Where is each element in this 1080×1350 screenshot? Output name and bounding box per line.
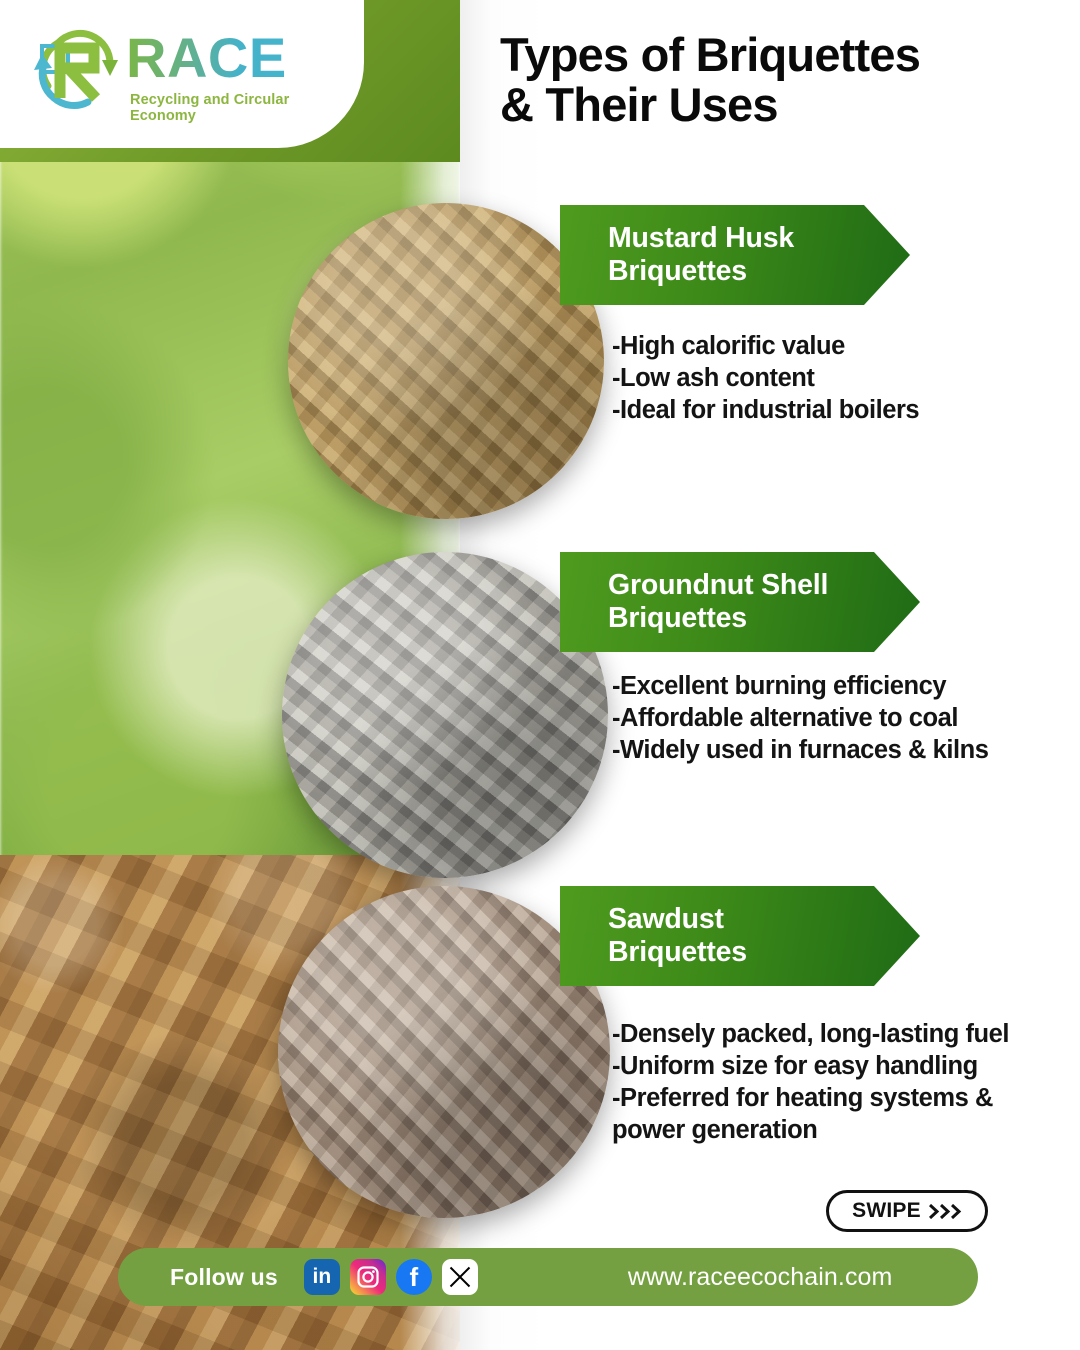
logo-wordmark: RACE	[126, 30, 287, 86]
banner-line-1: Sawdust	[608, 903, 724, 935]
banner-line-2: Briquettes	[608, 936, 747, 968]
bullet-item: -Low ash content	[612, 362, 919, 394]
bullet-item: -Ideal for industrial boilers	[612, 394, 919, 426]
banner-line-2: Briquettes	[608, 255, 747, 287]
section-image-groundnut-shell	[282, 552, 608, 878]
bullet-item: -Preferred for heating systems & power g…	[612, 1082, 1072, 1146]
section-bullets-sawdust: -Densely packed, long-lasting fuel -Unif…	[612, 1018, 1072, 1147]
facebook-icon[interactable]: f	[396, 1259, 432, 1295]
logo-plate: RACE Recycling and Circular Economy	[0, 0, 364, 148]
logo-tagline: Recycling and Circular Economy	[130, 92, 334, 124]
banner-line-1: Groundnut Shell	[608, 569, 828, 601]
section-bullets-mustard-husk: -High calorific value -Low ash content -…	[612, 330, 919, 426]
instagram-icon[interactable]	[350, 1259, 386, 1295]
page-title: Types of Briquettes & Their Uses	[500, 30, 1070, 131]
social-links: in f	[304, 1259, 478, 1295]
bullet-item: -Uniform size for easy handling	[612, 1050, 1072, 1082]
linkedin-icon[interactable]: in	[304, 1259, 340, 1295]
bullet-item: -Widely used in furnaces & kilns	[612, 734, 988, 766]
title-line-1: Types of Briquettes	[500, 28, 920, 81]
title-line-2: & Their Uses	[500, 78, 778, 131]
banner-line-1: Mustard Husk	[608, 222, 794, 254]
infographic-canvas: RACE Recycling and Circular Economy Type…	[0, 0, 1080, 1350]
banner-line-2: Briquettes	[608, 602, 747, 634]
triple-chevron-right-icon	[929, 1204, 962, 1219]
section-banner-sawdust: Sawdust Briquettes	[560, 886, 920, 986]
section-banner-mustard-husk: Mustard Husk Briquettes	[560, 205, 910, 305]
bullet-item: -Densely packed, long-lasting fuel	[612, 1018, 1072, 1050]
swipe-label: SWIPE	[852, 1199, 921, 1223]
section-bullets-groundnut-shell: -Excellent burning efficiency -Affordabl…	[612, 670, 988, 766]
website-url[interactable]: www.raceecochain.com	[628, 1263, 893, 1292]
section-image-mustard-husk	[288, 203, 604, 519]
footer-bar: Follow us in f www.raceecochain.com	[118, 1248, 978, 1306]
recycle-r-logo-icon	[34, 24, 126, 112]
section-banner-groundnut-shell: Groundnut Shell Briquettes	[560, 552, 920, 652]
bullet-item: -Excellent burning efficiency	[612, 670, 988, 702]
brand-logo[interactable]: RACE Recycling and Circular Economy	[34, 22, 334, 118]
bullet-item: -High calorific value	[612, 330, 919, 362]
bullet-item: -Affordable alternative to coal	[612, 702, 988, 734]
x-twitter-icon[interactable]	[442, 1259, 478, 1295]
swipe-button[interactable]: SWIPE	[826, 1190, 988, 1232]
follow-us-label: Follow us	[170, 1264, 278, 1291]
